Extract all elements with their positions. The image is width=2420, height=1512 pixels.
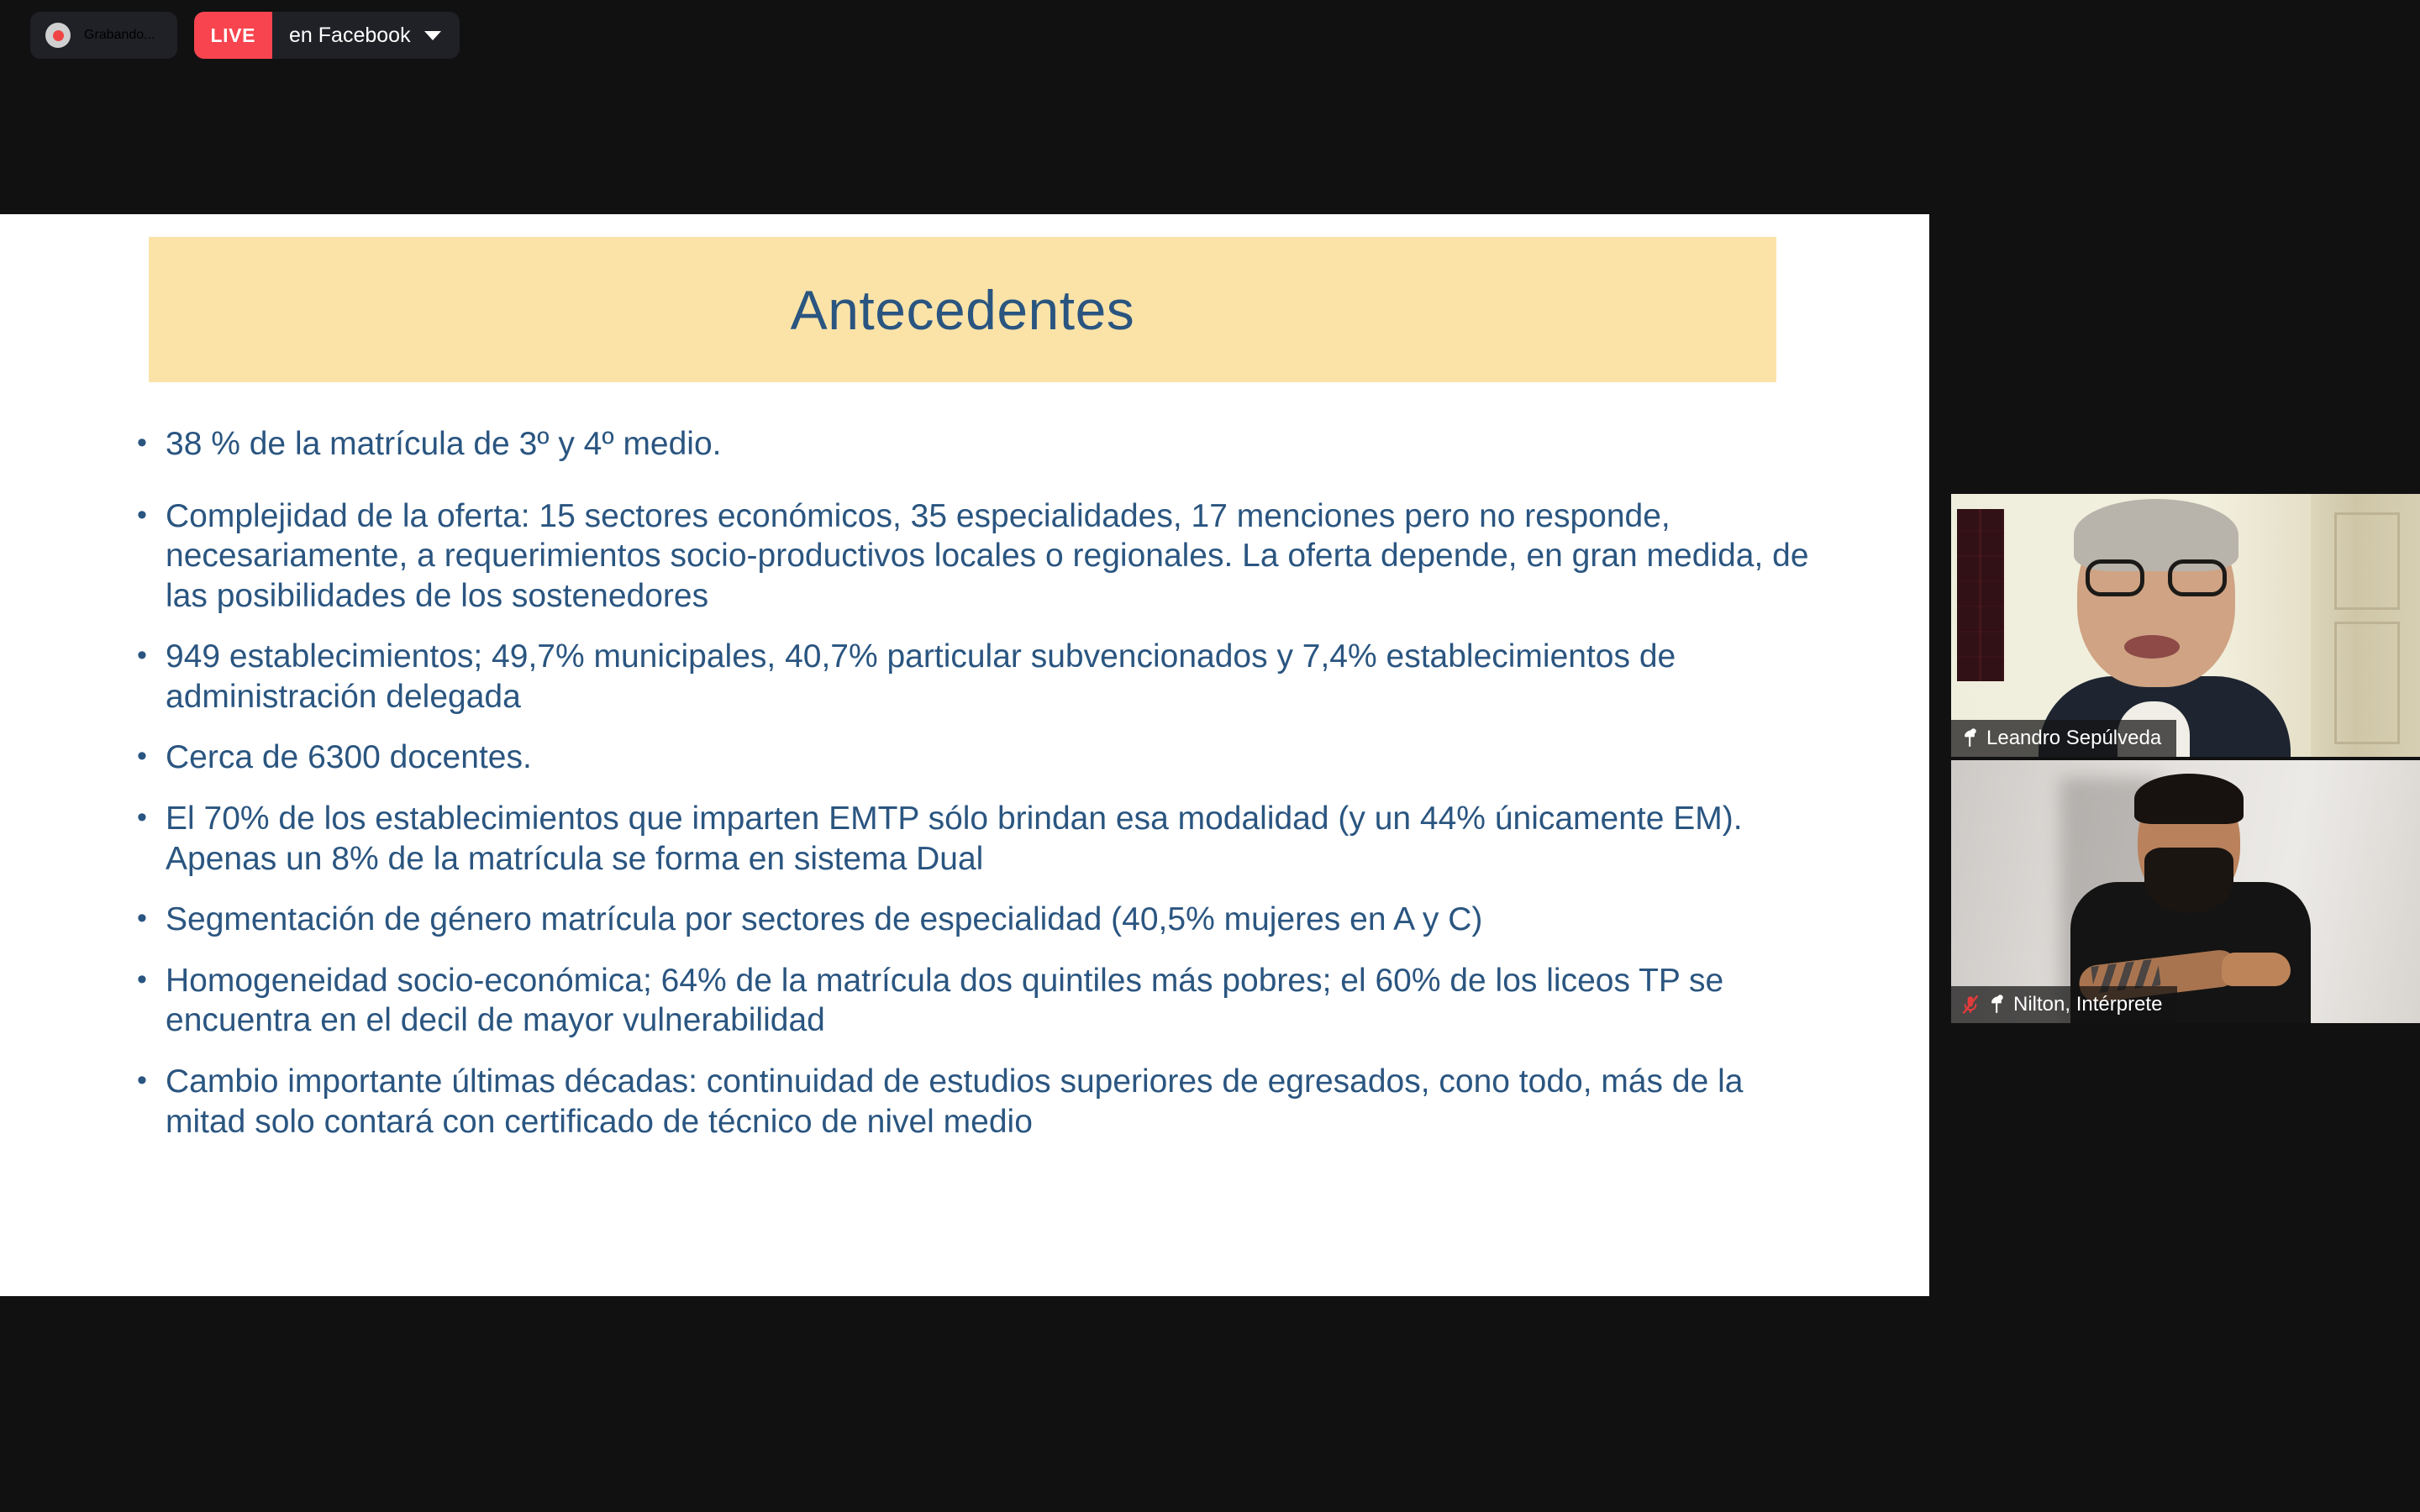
bullet-glyph: • [137,900,166,937]
list-item-text: Cerca de 6300 docentes. [166,738,1826,778]
list-item-text: 38 % de la matrícula de 3º y 4º medio. [166,424,1826,465]
page-title: Antecedentes [791,278,1135,342]
list-item-text: Homogeneidad socio-económica; 64% de la … [166,961,1826,1041]
live-platform-label: en Facebook [272,24,424,48]
participant-tile-leandro[interactable]: Leandro Sepúlveda [1951,494,2420,757]
bullet-glyph: • [137,738,166,774]
slide-title-banner: Antecedentes [149,237,1776,382]
shared-screen-slide: Antecedentes • 38 % de la matrícula de 3… [0,214,1929,1296]
person-beard [2144,848,2233,913]
list-item-text: 949 establecimientos; 49,7% municipales,… [166,637,1826,717]
list-item: • 949 establecimientos; 49,7% municipale… [137,637,1826,717]
list-item: • Cerca de 6300 docentes. [137,738,1826,778]
list-item: • Complejidad de la oferta: 15 sectores … [137,496,1826,617]
chevron-down-icon[interactable] [424,31,441,40]
list-item: • Homogeneidad socio-económica; 64% de l… [137,961,1826,1041]
list-item: • 38 % de la matrícula de 3º y 4º medio. [137,424,1826,465]
participant-name: Leandro Sepúlveda [1986,727,2161,750]
live-badge: LIVE [194,12,273,59]
participant-video-feed [1951,494,2420,757]
person-hand [2222,953,2291,986]
list-item-text: Segmentación de género matrícula por sec… [166,900,1826,940]
pin-icon [1961,728,1978,748]
participant-name-label: Leandro Sepúlveda [1951,720,2176,757]
microphone-muted-icon [1961,995,1980,1015]
list-item: • El 70% de los establecimientos que imp… [137,799,1826,879]
wall-tapestry-decor [1957,509,2004,681]
list-item: • Cambio importante últimas décadas: con… [137,1062,1826,1142]
door-decor [2311,494,2420,757]
participant-name: Nilton, Intérprete [2013,993,2162,1016]
slide-bullet-list: • 38 % de la matrícula de 3º y 4º medio.… [137,424,1826,1163]
recording-status-bar: Grabando... LIVE en Facebook [0,0,2420,71]
bullet-glyph: • [137,637,166,674]
live-stream-control[interactable]: LIVE en Facebook [194,12,460,59]
bullet-glyph: • [137,799,166,836]
bullet-glyph: • [137,424,166,461]
person-hair [2134,774,2244,824]
person-mouth [2124,635,2180,659]
bullet-glyph: • [137,1062,166,1099]
recording-label: Grabando... [84,28,155,43]
list-item-text: Complejidad de la oferta: 15 sectores ec… [166,496,1826,617]
list-item-text: Cambio importante últimas décadas: conti… [166,1062,1826,1142]
list-item: • Segmentación de género matrícula por s… [137,900,1826,940]
bullet-glyph: • [137,961,166,998]
participant-name-label: Nilton, Intérprete [1951,986,2177,1023]
participant-video-feed [1951,760,2420,1023]
list-item-text: El 70% de los establecimientos que impar… [166,799,1826,879]
pin-icon [1988,995,2005,1015]
recording-indicator-button[interactable]: Grabando... [30,12,177,59]
glasses-decor [2086,559,2227,596]
bullet-glyph: • [137,496,166,533]
record-dot-icon [45,23,71,48]
participant-tile-nilton[interactable]: Nilton, Intérprete [1951,760,2420,1023]
